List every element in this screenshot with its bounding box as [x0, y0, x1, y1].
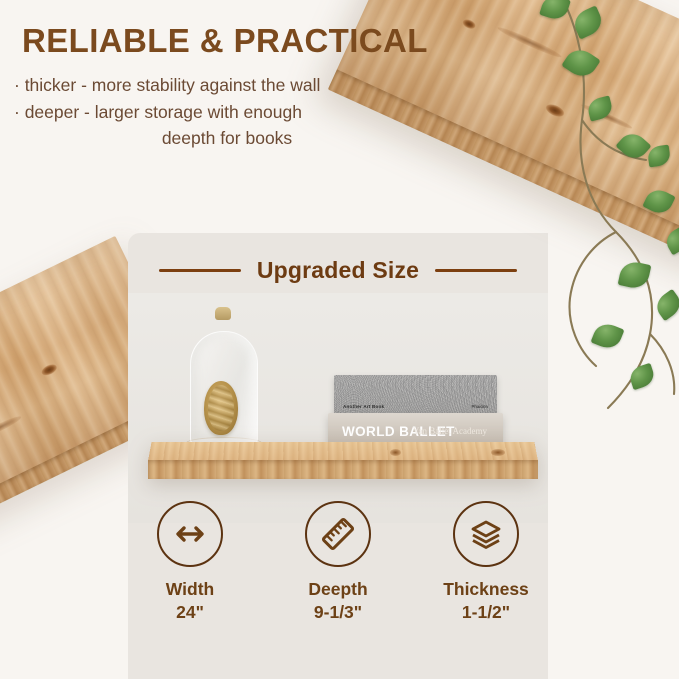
leaf [642, 185, 675, 217]
shelf-front-edge [148, 460, 538, 479]
leaf [647, 145, 672, 168]
deepth-icon-circle [305, 501, 371, 567]
shelf-knot [390, 449, 401, 456]
panel-heading-text: Upgraded Size [257, 257, 419, 284]
wood-floating-shelf [148, 441, 538, 479]
leaf [627, 363, 656, 390]
stat-deepth: Deepth 9-1/3" [286, 501, 390, 623]
stat-thickness: Thickness 1-1/2" [434, 501, 538, 623]
divider-line-left [159, 269, 241, 272]
leaf [590, 320, 624, 352]
bullet-item-1: · thicker - more stability against the w… [14, 72, 414, 99]
stat-thickness-value: 1-1/2" [462, 602, 510, 623]
thickness-icon-circle [453, 501, 519, 567]
width-icon-circle [157, 501, 223, 567]
bottom-book-publisher: Yan Ballet Academy [413, 426, 487, 436]
feature-bullet-list: · thicker - more stability against the w… [14, 72, 414, 152]
bullet-item-2: · deeper - larger storage with enough [14, 99, 414, 126]
ruler-icon [319, 515, 357, 553]
bullet-item-3: deepth for books [14, 125, 414, 152]
golden-pinecone [204, 381, 238, 435]
stat-width-value: 24" [176, 602, 204, 623]
cloche-knob [215, 307, 231, 320]
layers-stack-icon [467, 515, 505, 553]
top-book-title: Another Art Book [343, 404, 384, 409]
stat-deepth-label: Deepth [308, 579, 367, 600]
stats-row: Width 24" [128, 501, 548, 623]
leaf [662, 226, 679, 256]
leaf [539, 0, 571, 22]
shelf-top-surface [148, 442, 538, 461]
vine-leaf-group [470, 0, 679, 414]
stat-width-label: Width [166, 579, 214, 600]
double-arrow-horizontal-icon [172, 516, 208, 552]
leaf [570, 5, 606, 39]
page-headline: RELIABLE & PRACTICAL [22, 22, 428, 60]
leaf [652, 289, 679, 321]
leaf [618, 259, 652, 290]
stat-thickness-label: Thickness [443, 579, 529, 600]
leaf [561, 44, 600, 82]
leaf [586, 95, 614, 121]
stat-deepth-value: 9-1/3" [314, 602, 362, 623]
leaf [615, 128, 651, 164]
infographic-stage: Upgraded Size Another Art Book Phaidon W… [0, 0, 679, 679]
glass-cloche [190, 309, 256, 449]
stat-width: Width 24" [138, 501, 242, 623]
